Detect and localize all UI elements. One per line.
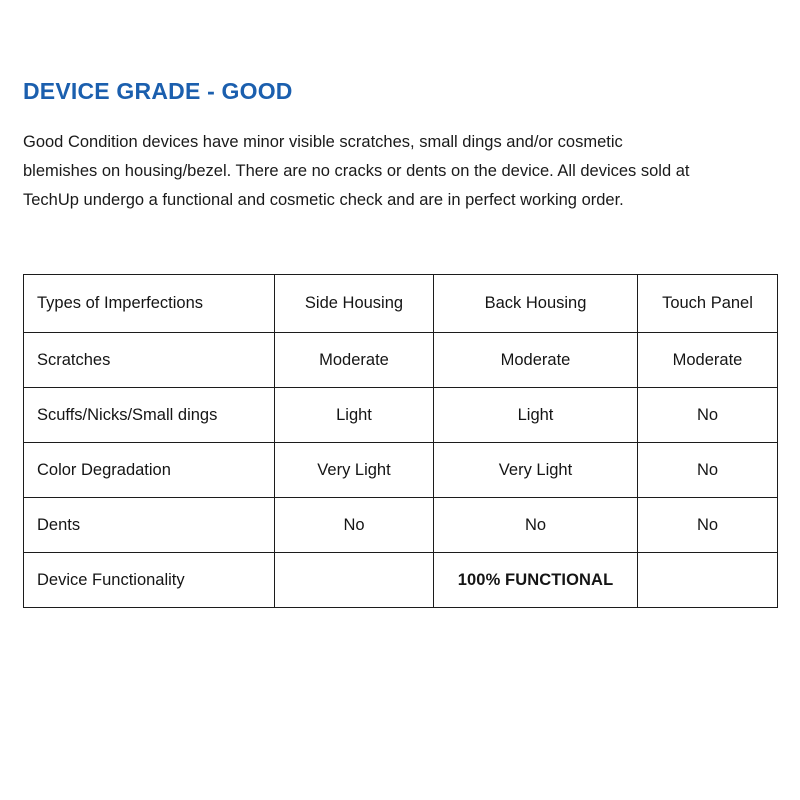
table-row: Scratches Moderate Moderate Moderate	[24, 333, 778, 388]
cell-back-housing: Moderate	[434, 333, 638, 388]
table-row: Device Functionality 100% FUNCTIONAL	[24, 553, 778, 608]
cell-side-housing: Light	[275, 388, 434, 443]
imperfections-table: Types of Imperfections Side Housing Back…	[23, 274, 778, 608]
cell-touch-panel: Moderate	[638, 333, 778, 388]
cell-touch-panel	[638, 553, 778, 608]
table-row: Color Degradation Very Light Very Light …	[24, 443, 778, 498]
row-label: Color Degradation	[24, 443, 275, 498]
cell-back-housing: Very Light	[434, 443, 638, 498]
column-header-side-housing: Side Housing	[275, 275, 434, 333]
device-grade-page: DEVICE GRADE - GOOD Good Condition devic…	[0, 0, 800, 800]
cell-side-housing	[275, 553, 434, 608]
cell-back-housing: No	[434, 498, 638, 553]
page-title: DEVICE GRADE - GOOD	[23, 78, 293, 105]
column-header-back-housing: Back Housing	[434, 275, 638, 333]
cell-touch-panel: No	[638, 498, 778, 553]
cell-side-housing: Moderate	[275, 333, 434, 388]
row-label: Scratches	[24, 333, 275, 388]
table-header-row: Types of Imperfections Side Housing Back…	[24, 275, 778, 333]
cell-side-housing: No	[275, 498, 434, 553]
footer: Phonecheck Certified LockDetection	[0, 625, 800, 775]
table-row: Scuffs/Nicks/Small dings Light Light No	[24, 388, 778, 443]
column-header-types: Types of Imperfections	[24, 275, 275, 333]
cell-touch-panel: No	[638, 388, 778, 443]
status-badge-functional: 100% FUNCTIONAL	[434, 553, 638, 608]
column-header-touch-panel: Touch Panel	[638, 275, 778, 333]
cell-side-housing: Very Light	[275, 443, 434, 498]
cell-touch-panel: No	[638, 443, 778, 498]
row-label: Dents	[24, 498, 275, 553]
row-label: Device Functionality	[24, 553, 275, 608]
row-label: Scuffs/Nicks/Small dings	[24, 388, 275, 443]
table-row: Dents No No No	[24, 498, 778, 553]
intro-paragraph: Good Condition devices have minor visibl…	[23, 128, 695, 215]
cell-back-housing: Light	[434, 388, 638, 443]
